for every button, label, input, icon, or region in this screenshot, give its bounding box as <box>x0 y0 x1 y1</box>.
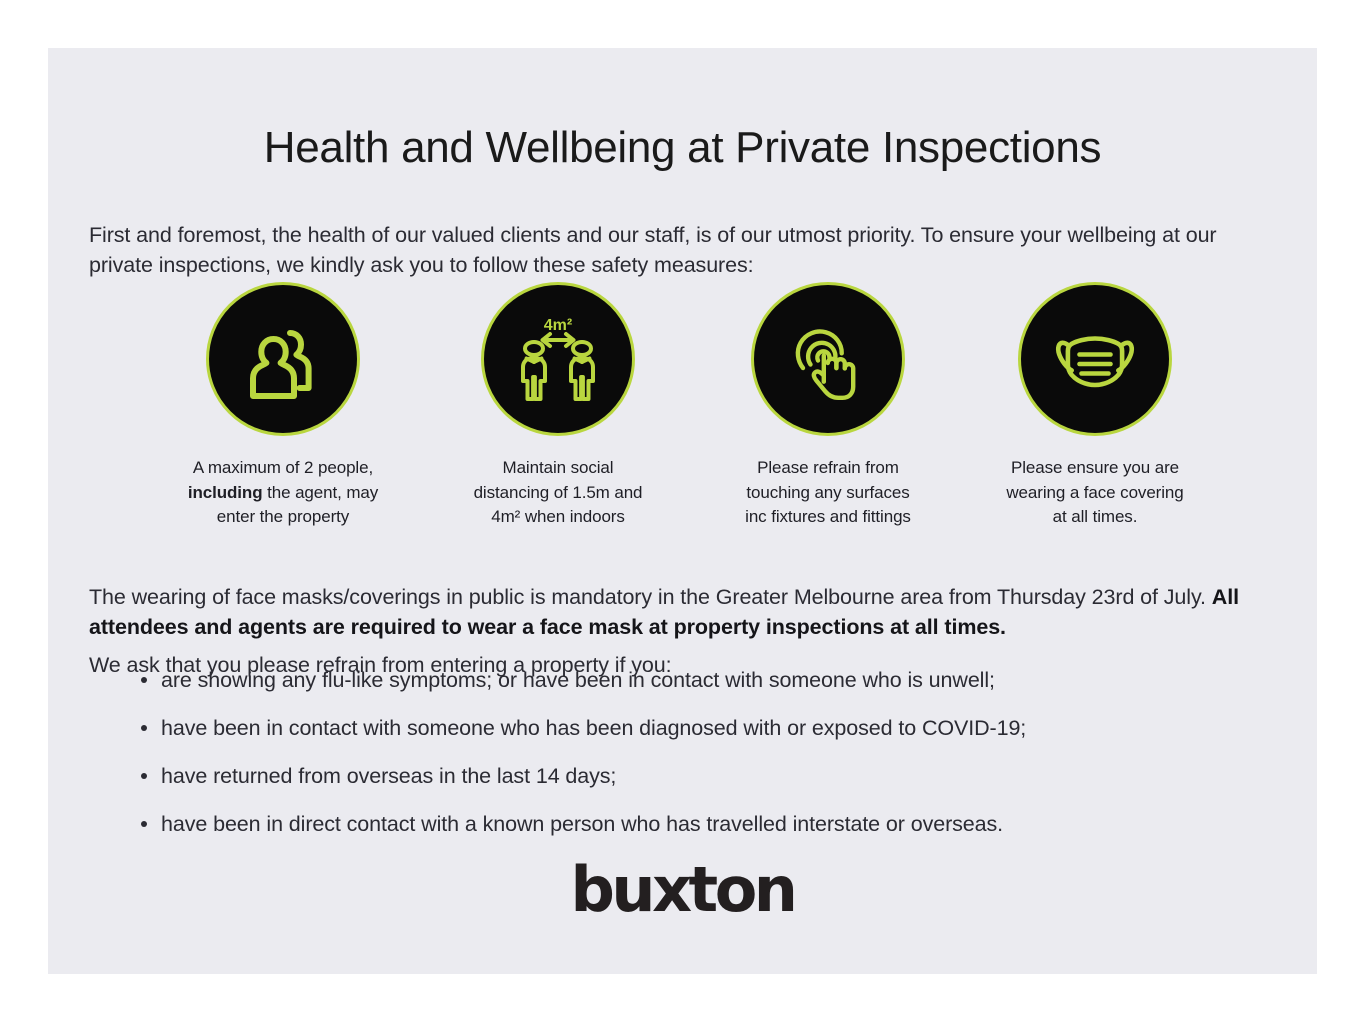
measure-item-no-touching: Please refrain from touching any surface… <box>708 282 948 530</box>
list-item: are showing any flu-like symptoms; or ha… <box>161 665 1291 695</box>
measure-item-max-people: A maximum of 2 people, including the age… <box>163 282 403 530</box>
measure-caption: Please ensure you are wearing a face cov… <box>975 456 1215 530</box>
measure-caption: Please refrain from touching any surface… <box>708 456 948 530</box>
caption-bold-word: including <box>188 483 263 502</box>
caption-line-1: Maintain social <box>503 458 614 477</box>
mask-mandate-paragraph: The wearing of face masks/coverings in p… <box>89 582 1289 643</box>
caption-line-3: inc fixtures and fittings <box>745 507 911 526</box>
caption-line-2: touching any surfaces <box>746 483 909 502</box>
brand-logo-text: buxton <box>571 853 795 926</box>
caption-line-3: at all times. <box>1053 507 1138 526</box>
caption-line-1: Please refrain from <box>757 458 899 477</box>
two-people-icon <box>206 282 360 436</box>
brand-logo: buxton <box>48 853 1317 926</box>
touch-hand-icon <box>751 282 905 436</box>
measure-item-social-distancing: 4m² Maintain social distancing of 1.5m a… <box>438 282 678 530</box>
caption-line-2: wearing a face covering <box>1006 483 1183 502</box>
social-distancing-icon: 4m² <box>481 282 635 436</box>
intro-paragraph: First and foremost, the health of our va… <box>89 220 1281 281</box>
poster-panel: Health and Wellbeing at Private Inspecti… <box>48 48 1317 974</box>
caption-line-2: distancing of 1.5m and <box>474 483 643 502</box>
list-item: have been in contact with someone who ha… <box>161 713 1291 743</box>
measure-caption: Maintain social distancing of 1.5m and 4… <box>438 456 678 530</box>
list-item: have returned from overseas in the last … <box>161 761 1291 791</box>
icon-area-label: 4m² <box>544 317 572 334</box>
measure-caption: A maximum of 2 people, including the age… <box>163 456 403 530</box>
caption-line-2: the agent, may <box>262 483 378 502</box>
refrain-list: are showing any flu-like symptoms; or ha… <box>128 665 1291 857</box>
caption-line-1: A maximum of 2 people, <box>193 458 373 477</box>
caption-line-3: enter the property <box>217 507 349 526</box>
measure-item-face-covering: Please ensure you are wearing a face cov… <box>975 282 1215 530</box>
list-item: have been in direct contact with a known… <box>161 809 1291 839</box>
caption-line-3: 4m² when indoors <box>491 507 625 526</box>
caption-line-1: Please ensure you are <box>1011 458 1179 477</box>
safety-measures-row: A maximum of 2 people, including the age… <box>48 282 1317 572</box>
mask-mandate-plain: The wearing of face masks/coverings in p… <box>89 585 1212 609</box>
face-mask-icon <box>1018 282 1172 436</box>
page-title: Health and Wellbeing at Private Inspecti… <box>48 124 1317 172</box>
